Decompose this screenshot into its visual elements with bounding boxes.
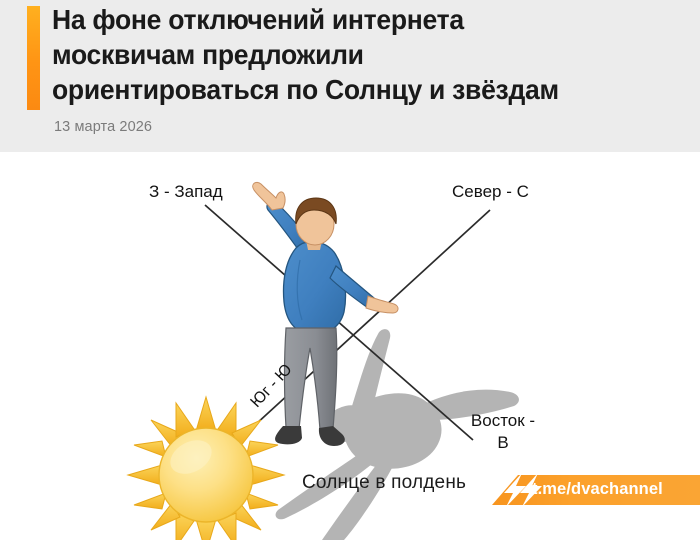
publication-date: 13 марта 2026 — [54, 119, 152, 135]
card-header: На фоне отключений интернета москвичам п… — [0, 0, 700, 152]
orange-accent-bar — [27, 6, 40, 110]
news-card: На фоне отключений интернета москвичам п… — [0, 0, 700, 540]
page-title: На фоне отключений интернета москвичам п… — [52, 2, 660, 107]
compass-label-north: Север - С — [452, 181, 529, 203]
sun-caption: Солнце в полдень — [302, 472, 466, 494]
compass-label-east: Восток - В — [463, 410, 543, 454]
watermark-link-text[interactable]: t.me/dvachannel — [532, 480, 663, 499]
compass-label-west: З - Запад — [149, 181, 223, 203]
sun-icon — [128, 397, 284, 540]
